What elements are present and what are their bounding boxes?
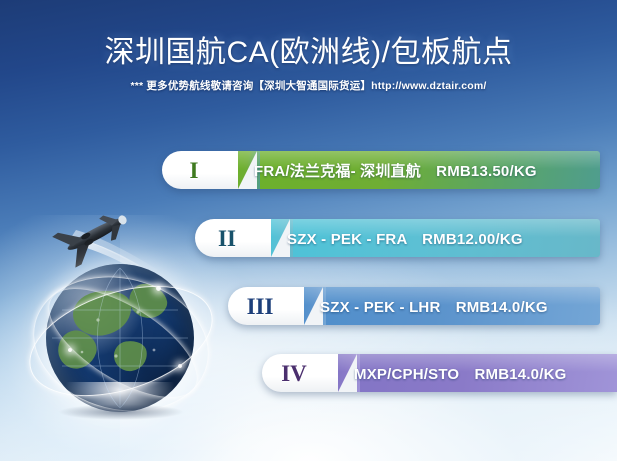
poster-canvas: 深圳国航CA(欧洲线)/包板航点 *** 更多优势航线敬请咨询【深圳大智通国际货…	[0, 0, 617, 461]
route-badge: II	[195, 219, 271, 257]
route-row[interactable]: III SZX - PEK - LHR RMB14.0/KG	[228, 287, 600, 325]
route-bar: SZX - PEK - LHR RMB14.0/KG	[304, 287, 600, 325]
route-badge: III	[228, 287, 304, 325]
route-index: III	[247, 295, 274, 318]
route-label: SZX - PEK - FRA RMB12.00/KG	[271, 228, 523, 249]
route-row[interactable]: IV MXP/CPH/STO RMB14.0/KG	[262, 354, 617, 392]
route-index: II	[218, 227, 236, 250]
route-badge: I	[162, 151, 238, 189]
route-index: I	[190, 159, 199, 182]
route-bar: MXP/CPH/STO RMB14.0/KG	[338, 354, 617, 392]
route-row[interactable]: II SZX - PEK - FRA RMB12.00/KG	[195, 219, 600, 257]
route-label: SZX - PEK - LHR RMB14.0/KG	[304, 296, 548, 317]
route-row[interactable]: I FRA/法兰克福- 深圳直航 RMB13.50/KG	[162, 151, 600, 189]
route-label: MXP/CPH/STO RMB14.0/KG	[338, 363, 567, 384]
route-index: IV	[281, 362, 307, 385]
route-list: I FRA/法兰克福- 深圳直航 RMB13.50/KG II SZX - PE…	[0, 0, 617, 461]
route-badge: IV	[262, 354, 338, 392]
route-bar: SZX - PEK - FRA RMB12.00/KG	[271, 219, 600, 257]
route-bar: FRA/法兰克福- 深圳直航 RMB13.50/KG	[238, 151, 600, 189]
route-label: FRA/法兰克福- 深圳直航 RMB13.50/KG	[238, 160, 537, 181]
